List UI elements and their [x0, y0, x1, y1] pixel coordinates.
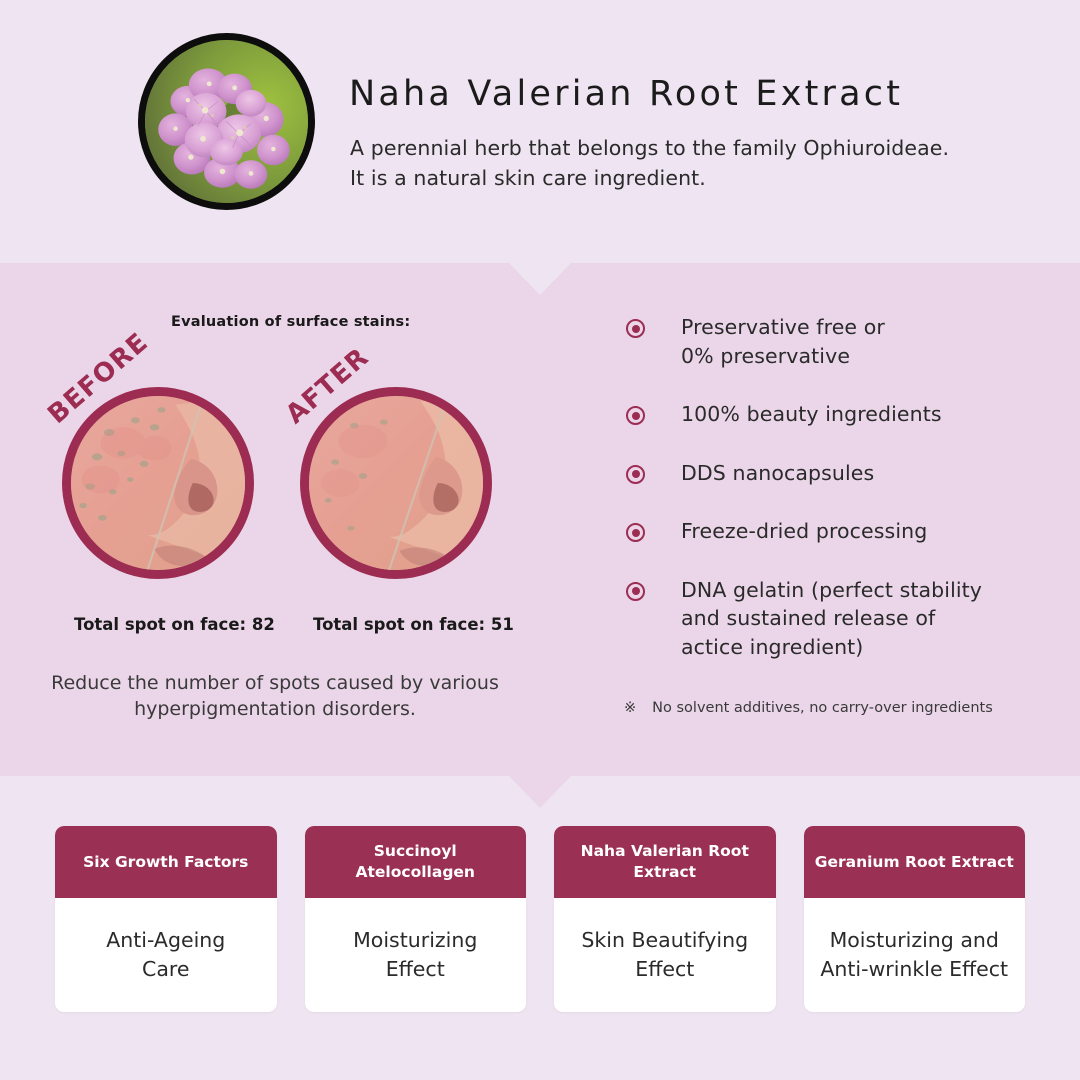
reference-mark-icon: ※ [624, 700, 636, 716]
evaluation-summary-line-1: Reduce the number of spots caused by var… [40, 670, 510, 696]
card-3-effect-line-2: Effect [581, 955, 748, 984]
feature-item-5-text: DNA gelatin (perfect stability and susta… [681, 576, 1034, 662]
bullet-icon [626, 465, 645, 484]
feature-item-5: DNA gelatin (perfect stability and susta… [624, 576, 1034, 662]
card-4-effect-line-2: Anti-wrinkle Effect [820, 955, 1008, 984]
feature-item-2-text: 100% beauty ingredients [681, 400, 1034, 429]
bullet-icon [626, 319, 645, 338]
section-divider-notch-2 [509, 776, 571, 808]
page-title: Naha Valerian Root Extract [349, 74, 903, 114]
feature-item-3-text: DDS nanocapsules [681, 459, 1034, 488]
features-footnote: ※ No solvent additives, no carry-over in… [624, 700, 993, 716]
feature-list: Preservative free or 0% preservative 100… [624, 313, 1034, 661]
ingredient-card-title: Naha Valerian Root Extract [554, 826, 776, 898]
bullet-icon [626, 523, 645, 542]
features-footnote-text: No solvent additives, no carry-over ingr… [652, 700, 993, 716]
ingredient-card-effect: Moisturizing Effect [305, 898, 527, 1012]
flower-illustration [145, 40, 308, 203]
ingredient-card-title: Succinoyl Atelocollagen [305, 826, 527, 898]
ingredient-card-title: Geranium Root Extract [804, 826, 1026, 898]
ingredient-card[interactable]: Succinoyl Atelocollagen Moisturizing Eff… [305, 826, 527, 1012]
after-skin-illustration [309, 396, 483, 570]
ingredient-card-effect: Skin Beautifying Effect [554, 898, 776, 1012]
feature-1-line-2: 0% preservative [681, 342, 1034, 371]
before-spot-caption: Total spot on face: 82 [74, 615, 275, 634]
feature-3-line-1: DDS nanocapsules [681, 459, 1034, 488]
after-photo [300, 387, 492, 579]
ingredient-card-grid: Six Growth Factors Anti-Ageing Care Succ… [55, 826, 1025, 1012]
bullet-icon [626, 406, 645, 425]
subtitle-line-1: A perennial herb that belongs to the fam… [350, 133, 949, 163]
ingredient-card[interactable]: Geranium Root Extract Moisturizing and A… [804, 826, 1026, 1012]
ingredient-card[interactable]: Six Growth Factors Anti-Ageing Care [55, 826, 277, 1012]
feature-item-2: 100% beauty ingredients [624, 400, 1034, 429]
card-3-effect-line-1: Skin Beautifying [581, 926, 748, 955]
feature-5-line-1: DNA gelatin (perfect stability [681, 576, 1034, 605]
bullet-icon [626, 582, 645, 601]
ingredient-card-title: Six Growth Factors [55, 826, 277, 898]
card-2-effect-line-1: Moisturizing [353, 926, 477, 955]
flower-photo [138, 33, 315, 210]
evaluation-summary-line-2: hyperpigmentation disorders. [40, 696, 510, 722]
feature-item-1-text: Preservative free or 0% preservative [681, 313, 1034, 370]
feature-item-4-text: Freeze-dried processing [681, 517, 1034, 546]
evaluation-title: Evaluation of surface stains: [171, 314, 410, 330]
subtitle-line-2: It is a natural skin care ingredient. [350, 163, 949, 193]
feature-1-line-1: Preservative free or [681, 313, 1034, 342]
before-photo [62, 387, 254, 579]
page-subtitle: A perennial herb that belongs to the fam… [350, 133, 949, 193]
card-2-effect-line-2: Effect [353, 955, 477, 984]
feature-item-1: Preservative free or 0% preservative [624, 313, 1034, 370]
feature-5-line-2: and sustained release of [681, 604, 1034, 633]
page-header: Naha Valerian Root Extract A perennial h… [0, 0, 1080, 263]
section-divider-notch-1 [509, 263, 571, 295]
ingredient-card[interactable]: Naha Valerian Root Extract Skin Beautify… [554, 826, 776, 1012]
feature-item-3: DDS nanocapsules [624, 459, 1034, 488]
after-spot-caption: Total spot on face: 51 [313, 615, 514, 634]
ingredient-card-effect: Anti-Ageing Care [55, 898, 277, 1012]
before-skin-illustration [71, 396, 245, 570]
card-4-effect-line-1: Moisturizing and [820, 926, 1008, 955]
ingredient-card-effect: Moisturizing and Anti-wrinkle Effect [804, 898, 1026, 1012]
feature-5-line-3: actice ingredient) [681, 633, 1034, 662]
feature-2-line-1: 100% beauty ingredients [681, 400, 1034, 429]
feature-4-line-1: Freeze-dried processing [681, 517, 1034, 546]
card-1-effect-line-2: Care [106, 955, 225, 984]
feature-item-4: Freeze-dried processing [624, 517, 1034, 546]
evaluation-summary: Reduce the number of spots caused by var… [40, 670, 510, 722]
card-1-effect-line-1: Anti-Ageing [106, 926, 225, 955]
